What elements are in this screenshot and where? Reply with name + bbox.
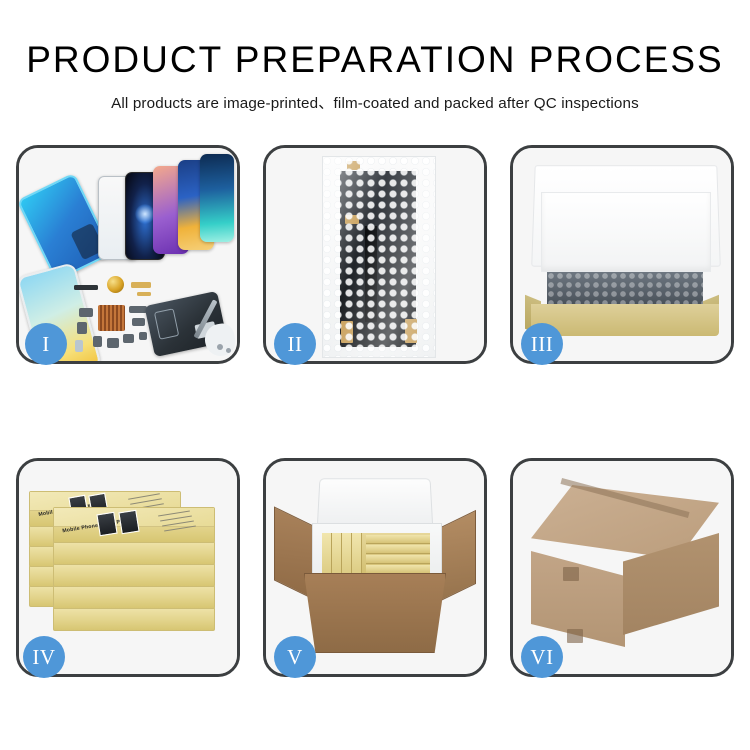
process-step-6: VI (510, 458, 734, 677)
small-component-part (123, 334, 134, 343)
retail-box (53, 563, 215, 587)
circuit-chip-part (98, 305, 125, 331)
carton-tape-lower (567, 629, 583, 643)
retail-box (53, 607, 215, 631)
small-component-part (75, 340, 83, 352)
box-face (366, 535, 430, 544)
step-4-numeral-badge: IV (23, 636, 65, 678)
process-step-4: Mobile Phone Spare Parts Mobile Phone Sp… (16, 458, 240, 677)
step-3-numeral-badge: III (521, 323, 563, 365)
foam-sheet (541, 192, 711, 272)
small-component-part (107, 338, 119, 348)
step-6-numeral-badge: VI (521, 636, 563, 678)
page-subtitle: All products are image-printed、film-coat… (0, 91, 750, 113)
process-step-1: I (16, 145, 240, 364)
small-component-part (77, 322, 87, 334)
screw-part (226, 348, 231, 353)
small-component-part (139, 332, 147, 340)
step-2-numeral-badge: II (274, 323, 316, 365)
carton-tape-upper (563, 567, 579, 581)
phone-display-teal (200, 154, 234, 242)
process-step-5: V (263, 458, 487, 677)
retail-box (53, 585, 215, 609)
box-face (366, 545, 430, 554)
flex-cable-part (74, 285, 98, 290)
small-component-part (79, 308, 93, 317)
gold-connector-part (131, 282, 151, 288)
small-component-part (93, 336, 102, 347)
gold-connector-part (137, 292, 151, 296)
bubble-wrapped-contents (547, 272, 703, 308)
box-face (366, 555, 430, 564)
page-title: PRODUCT PREPARATION PROCESS (0, 38, 750, 82)
step-5-numeral-badge: V (274, 636, 316, 678)
box-face (366, 565, 430, 574)
page-header: PRODUCT PREPARATION PROCESS All products… (0, 0, 750, 113)
plastic-sheen (323, 157, 435, 357)
small-component-part (129, 306, 147, 313)
bubble-wrap-bag (322, 156, 436, 358)
speaker-module-part (107, 276, 124, 293)
process-step-2: II (263, 145, 487, 364)
retail-box-top-right: Mobile Phone Spare Parts (53, 507, 215, 543)
small-component-part (132, 318, 145, 326)
box-phone-thumbnail (118, 510, 139, 535)
process-step-3: III (510, 145, 734, 364)
retail-box (53, 541, 215, 565)
process-step-grid: I II III (16, 145, 734, 677)
carton-front-panel (304, 573, 446, 653)
screw-part (217, 344, 223, 350)
step-1-numeral-badge: I (25, 323, 67, 365)
box-phone-thumbnail (96, 512, 117, 537)
